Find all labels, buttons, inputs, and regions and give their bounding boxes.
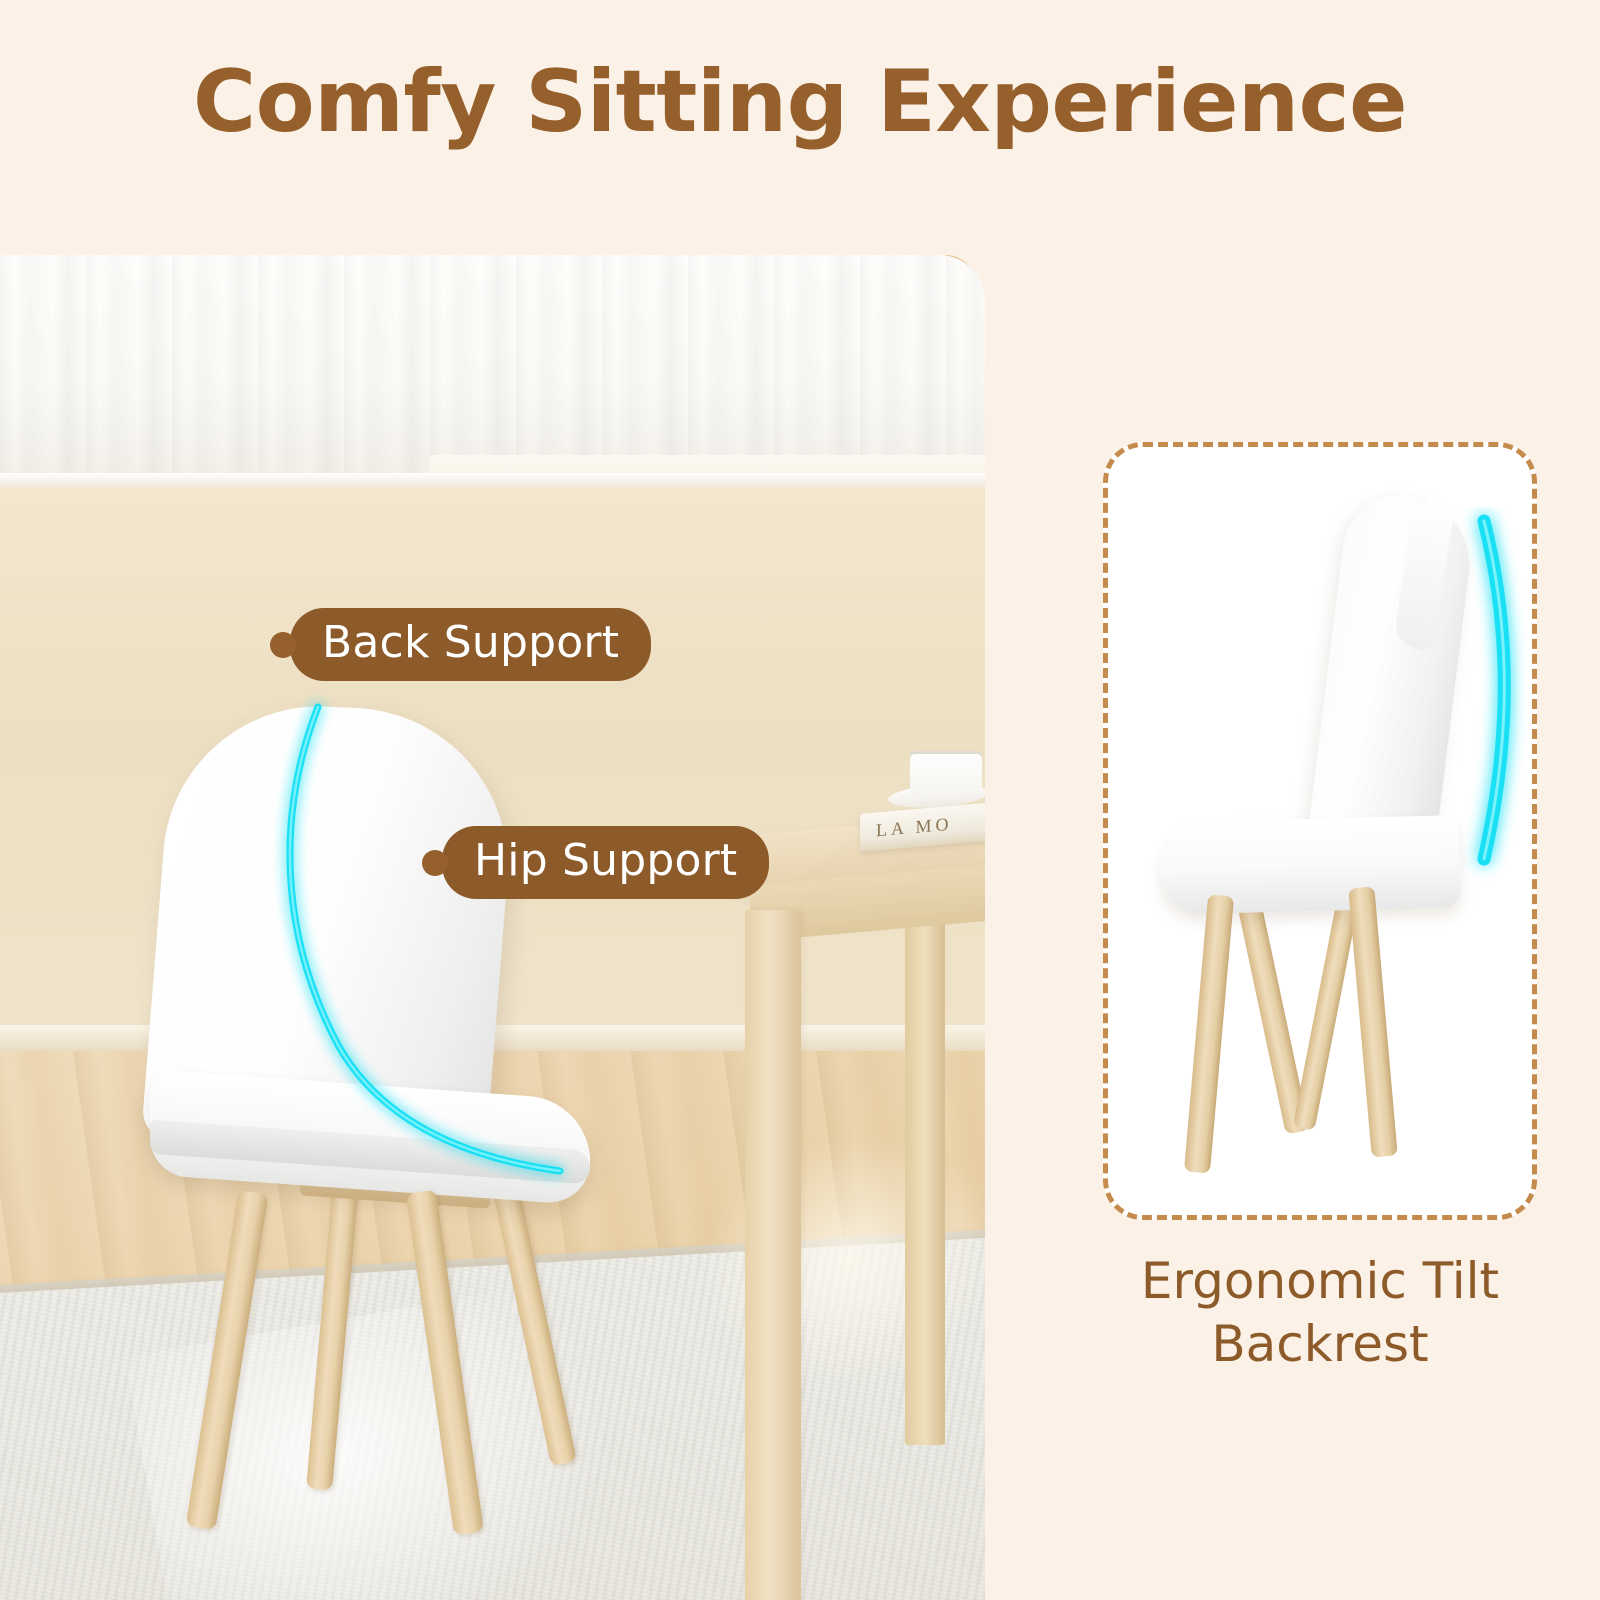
- callout-hip-support-label: Hip Support: [442, 826, 769, 899]
- detail-panel-ergonomic-backrest: [1103, 442, 1537, 1220]
- cup-prop: [910, 751, 982, 797]
- side-chair-leg-front-left: [1184, 894, 1234, 1173]
- curtain-background: [0, 255, 985, 485]
- callout-back-support[interactable]: Back Support: [270, 608, 651, 681]
- table-leg-back: [905, 885, 945, 1445]
- callout-dot-icon: [270, 632, 296, 658]
- callout-back-support-label: Back Support: [290, 608, 651, 681]
- callout-dot-icon: [422, 850, 448, 876]
- main-lifestyle-photo: LA MO: [0, 255, 985, 1600]
- page-title: Comfy Sitting Experience: [0, 52, 1600, 152]
- marketing-infographic-page: Comfy Sitting Experience LA MO: [0, 0, 1600, 1600]
- callout-hip-support[interactable]: Hip Support: [422, 826, 769, 899]
- detail-caption-line-2: Backrest: [1103, 1313, 1537, 1376]
- side-chair-leg-front-right: [1348, 886, 1397, 1157]
- detail-caption-line-1: Ergonomic Tilt: [1103, 1250, 1537, 1313]
- side-chair-seat: [1159, 815, 1461, 915]
- table-leg-front: [745, 910, 801, 1600]
- detail-panel-caption: Ergonomic Tilt Backrest: [1103, 1250, 1537, 1376]
